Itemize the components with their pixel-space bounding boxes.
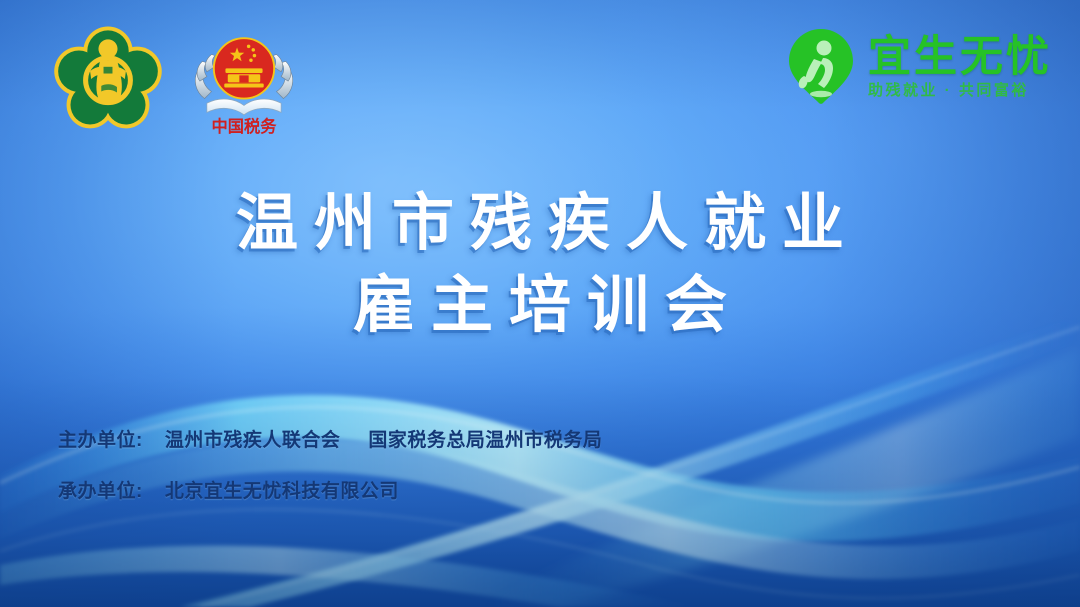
credit-value-organizer-1: 北京宜生无忧科技有限公司 <box>165 476 399 503</box>
credit-label-organizer: 承办单位: <box>58 476 143 503</box>
china-taxation-emblem: 中国税务 <box>186 22 302 138</box>
credit-row-organizer: 承办单位: 北京宜生无忧科技有限公司 <box>58 476 602 503</box>
credit-value-host-1: 温州市残疾人联合会 <box>165 425 341 452</box>
official-logos: 中国税务 <box>52 22 302 138</box>
title-line-2: 雇主培训会 <box>0 265 1080 347</box>
page-title: 温州市残疾人就业 雇主培训会 <box>0 183 1080 347</box>
location-pin-person-logo <box>784 26 858 108</box>
brand-lockup: 宜生无忧 助残就业 · 共同富裕 <box>784 26 1052 108</box>
credit-row-host: 主办单位: 温州市残疾人联合会 国家税务总局温州市税务局 <box>58 425 602 452</box>
cdpf-plum-blossom-logo <box>52 22 164 134</box>
title-line-1: 温州市残疾人就业 <box>0 183 1080 265</box>
brand-tagline: 助残就业 · 共同富裕 <box>868 83 1052 98</box>
organizer-credits: 主办单位: 温州市残疾人联合会 国家税务总局温州市税务局 承办单位: 北京宜生无… <box>58 425 602 503</box>
tax-emblem-caption: 中国税务 <box>212 117 278 136</box>
poster-canvas: 中国税务 宜生无忧 助残就业 · 共同富裕 温州市残疾人就业 雇主培训会 主办单… <box>0 0 1080 607</box>
brand-name: 宜生无忧 <box>868 36 1052 79</box>
credit-value-host-2: 国家税务总局温州市税务局 <box>368 425 602 452</box>
credit-label-host: 主办单位: <box>58 425 143 452</box>
